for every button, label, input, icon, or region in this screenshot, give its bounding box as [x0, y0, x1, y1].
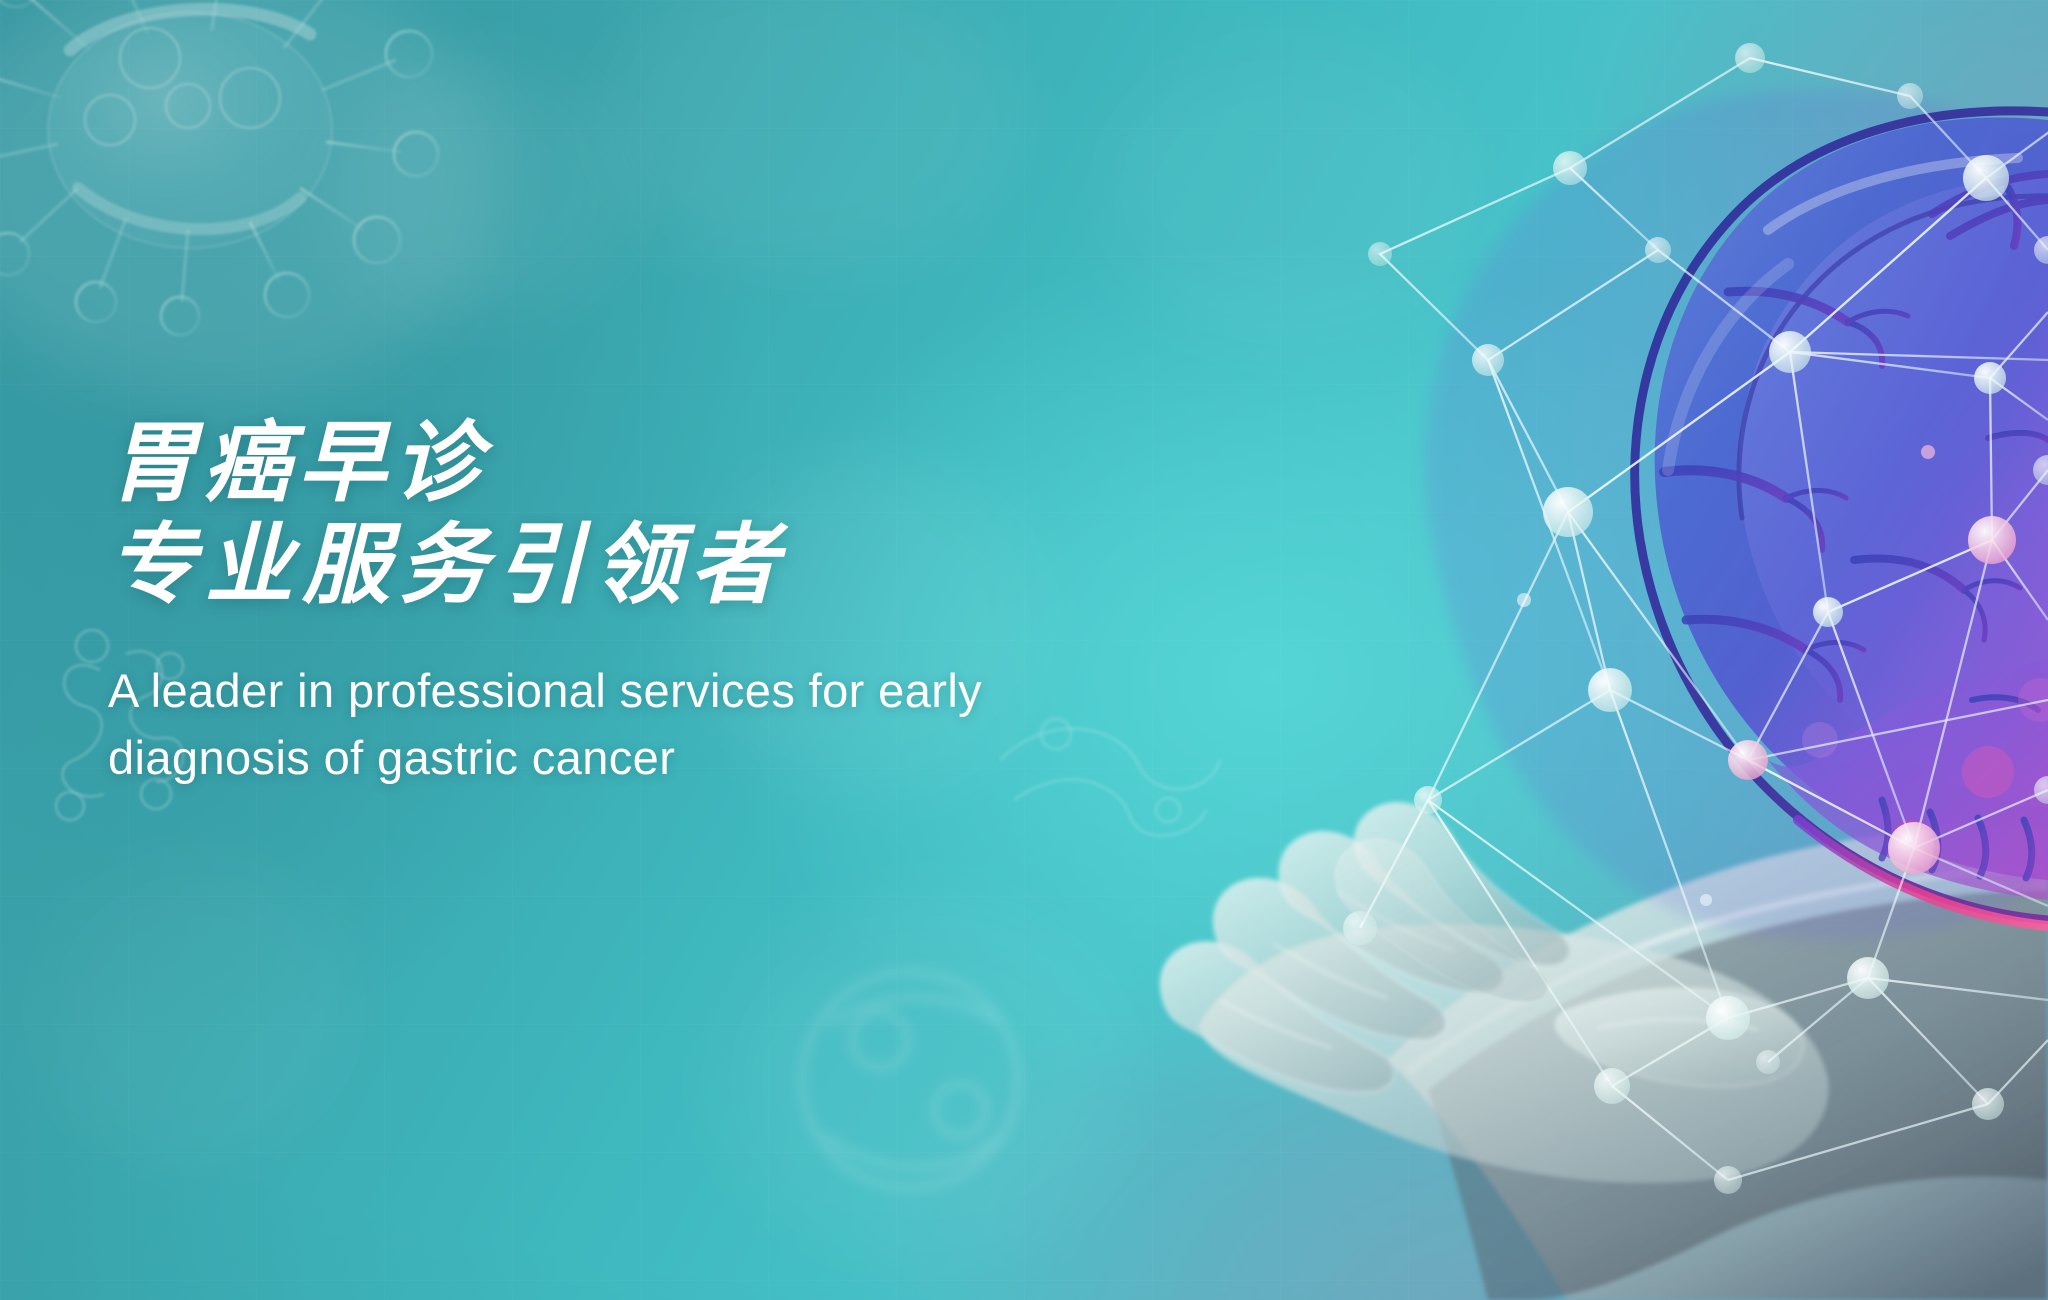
hero-banner: 胃癌早诊 专业服务引领者 A leader in professional se… [0, 0, 2048, 1300]
vignette-overlay [0, 0, 2048, 1300]
